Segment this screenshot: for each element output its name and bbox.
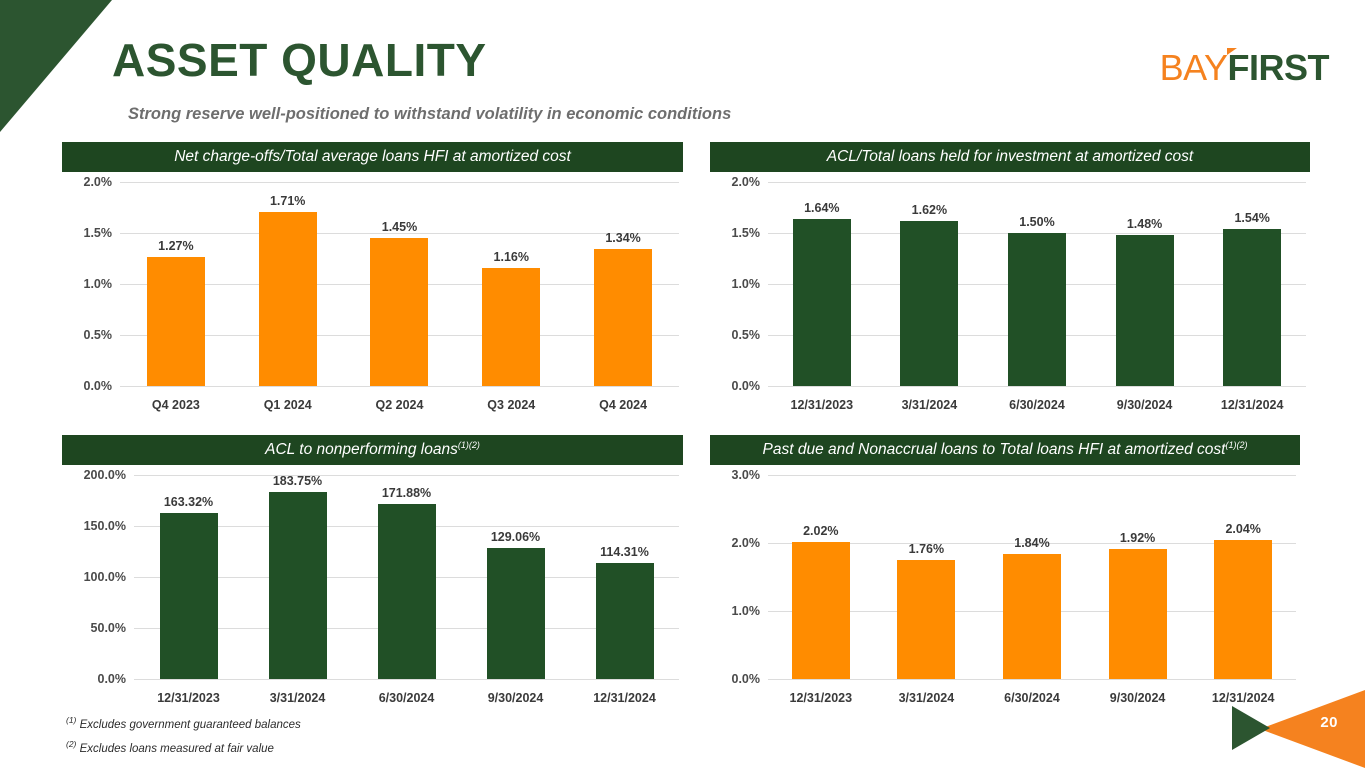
chart-plot-past-due-nonaccrual: 3.0%2.0%1.0%0.0%2.02%1.76%1.84%1.92%2.04… <box>710 475 1300 713</box>
bar-value-label: 1.71% <box>270 194 305 208</box>
chart-title-superscript: (1)(2) <box>1225 440 1247 450</box>
y-axis-tick-label: 2.0% <box>732 536 761 550</box>
bar-value-label: 1.27% <box>158 239 193 253</box>
bar <box>147 257 205 387</box>
gridline: 0.0% <box>134 679 679 680</box>
bar <box>792 542 850 679</box>
corner-decoration-top-left <box>0 0 112 132</box>
bar-group: 2.02%1.76%1.84%1.92%2.04% <box>768 475 1296 679</box>
bar <box>793 219 851 386</box>
footnotes: (1) Excludes government guaranteed balan… <box>66 712 301 761</box>
bar-slot: 2.02% <box>768 475 874 679</box>
y-axis-tick-label: 1.0% <box>732 277 761 291</box>
logo-text-first: FIRST <box>1228 47 1330 88</box>
y-axis-tick-label: 0.0% <box>732 672 761 686</box>
bar-slot: 1.48% <box>1091 182 1199 386</box>
x-axis-tick-label: 6/30/2024 <box>352 691 461 705</box>
chart-plot-area: 2.0%1.5%1.0%0.5%0.0%1.64%1.62%1.50%1.48%… <box>768 182 1306 386</box>
bar-value-label: 1.50% <box>1019 215 1054 229</box>
bar <box>1214 540 1272 679</box>
x-axis-tick-label: 3/31/2024 <box>874 691 980 705</box>
bar <box>487 548 545 680</box>
bar-value-label: 1.34% <box>605 231 640 245</box>
chart-plot-area: 200.0%150.0%100.0%50.0%0.0%163.32%183.75… <box>134 475 679 679</box>
chart-plot-acl-total-loans: 2.0%1.5%1.0%0.5%0.0%1.64%1.62%1.50%1.48%… <box>710 182 1310 420</box>
bar <box>1109 549 1167 680</box>
bar <box>482 268 540 386</box>
x-axis-tick-label: 6/30/2024 <box>983 398 1091 412</box>
bar-slot: 1.62% <box>876 182 984 386</box>
bar-value-label: 129.06% <box>491 530 540 544</box>
bar-slot: 1.16% <box>455 182 567 386</box>
x-axis-tick-label: Q2 2024 <box>344 398 456 412</box>
bar-value-label: 1.45% <box>382 220 417 234</box>
x-axis-tick-label: Q4 2023 <box>120 398 232 412</box>
bar <box>269 492 327 679</box>
x-axis-tick-label: 9/30/2024 <box>1085 691 1191 705</box>
y-axis-tick-label: 1.0% <box>732 604 761 618</box>
y-axis-tick-label: 0.0% <box>732 379 761 393</box>
chart-plot-area: 3.0%2.0%1.0%0.0%2.02%1.76%1.84%1.92%2.04… <box>768 475 1296 679</box>
y-axis-tick-label: 0.5% <box>732 328 761 342</box>
footnote-2: (2) Excludes loans measured at fair valu… <box>66 736 301 760</box>
x-axis-tick-label: 12/31/2023 <box>768 398 876 412</box>
bar <box>160 513 218 680</box>
company-logo: BAYFIRST <box>1160 50 1329 86</box>
bar-slot: 1.45% <box>344 182 456 386</box>
bar-value-label: 2.02% <box>803 524 838 538</box>
footnote-1: (1) Excludes government guaranteed balan… <box>66 712 301 736</box>
bar-value-label: 114.31% <box>600 545 649 559</box>
bar <box>900 221 958 386</box>
y-axis-tick-label: 0.5% <box>84 328 113 342</box>
chart-title-acl-total-loans: ACL/Total loans held for investment at a… <box>710 142 1310 172</box>
bar-slot: 1.27% <box>120 182 232 386</box>
chart-plot-net-charge-offs: 2.0%1.5%1.0%0.5%0.0%1.27%1.71%1.45%1.16%… <box>62 182 683 420</box>
bar-value-label: 2.04% <box>1225 522 1260 536</box>
bar-slot: 2.04% <box>1190 475 1296 679</box>
bar-slot: 114.31% <box>570 475 679 679</box>
y-axis-tick-label: 3.0% <box>732 468 761 482</box>
bar <box>596 563 654 680</box>
bar-slot: 171.88% <box>352 475 461 679</box>
x-axis-tick-label: 12/31/2023 <box>134 691 243 705</box>
chart-x-axis: 12/31/20233/31/20246/30/20249/30/202412/… <box>768 683 1296 713</box>
y-axis-tick-label: 2.0% <box>84 175 113 189</box>
y-axis-tick-label: 1.5% <box>84 226 113 240</box>
bar-slot: 1.84% <box>979 475 1085 679</box>
bar-value-label: 183.75% <box>273 474 322 488</box>
x-axis-tick-label: 12/31/2024 <box>570 691 679 705</box>
page-number: 20 <box>1320 714 1338 731</box>
y-axis-tick-label: 50.0% <box>91 621 126 635</box>
bar-value-label: 163.32% <box>164 495 213 509</box>
bar-value-label: 1.76% <box>909 542 944 556</box>
bar-value-label: 171.88% <box>382 486 431 500</box>
chart-plot-acl-to-nonperforming: 200.0%150.0%100.0%50.0%0.0%163.32%183.75… <box>62 475 683 713</box>
bar-group: 1.27%1.71%1.45%1.16%1.34% <box>120 182 679 386</box>
logo-text-bay: BAY <box>1160 47 1228 88</box>
y-axis-tick-label: 0.0% <box>98 672 127 686</box>
x-axis-tick-label: 9/30/2024 <box>1091 398 1199 412</box>
x-axis-tick-label: 12/31/2024 <box>1198 398 1306 412</box>
bar-slot: 1.34% <box>567 182 679 386</box>
bar-slot: 1.76% <box>874 475 980 679</box>
chart-panel-past-due-nonaccrual: Past due and Nonaccrual loans to Total l… <box>710 435 1300 717</box>
chart-title-past-due-nonaccrual: Past due and Nonaccrual loans to Total l… <box>710 435 1300 465</box>
chart-x-axis: 12/31/20233/31/20246/30/20249/30/202412/… <box>768 390 1306 420</box>
y-axis-tick-label: 1.5% <box>732 226 761 240</box>
chart-panel-net-charge-offs: Net charge-offs/Total average loans HFI … <box>62 142 683 424</box>
bar-value-label: 1.48% <box>1127 217 1162 231</box>
bar <box>1008 233 1066 386</box>
y-axis-tick-label: 2.0% <box>732 175 761 189</box>
y-axis-tick-label: 1.0% <box>84 277 113 291</box>
x-axis-tick-label: 12/31/2024 <box>1190 691 1296 705</box>
bar <box>1003 554 1061 679</box>
x-axis-tick-label: Q3 2024 <box>455 398 567 412</box>
bar-slot: 1.64% <box>768 182 876 386</box>
bar <box>378 504 436 679</box>
chart-x-axis: Q4 2023Q1 2024Q2 2024Q3 2024Q4 2024 <box>120 390 679 420</box>
footnote-1-text: Excludes government guaranteed balances <box>80 719 301 731</box>
x-axis-tick-label: 12/31/2023 <box>768 691 874 705</box>
x-axis-tick-label: 6/30/2024 <box>979 691 1085 705</box>
gridline: 0.0% <box>120 386 679 387</box>
gridline: 0.0% <box>768 386 1306 387</box>
chart-x-axis: 12/31/20233/31/20246/30/20249/30/202412/… <box>134 683 679 713</box>
page-subtitle: Strong reserve well-positioned to withst… <box>128 105 731 124</box>
bar-value-label: 1.92% <box>1120 531 1155 545</box>
footnote-2-marker: (2) <box>66 739 76 749</box>
y-axis-tick-label: 200.0% <box>84 468 126 482</box>
bar-slot: 1.50% <box>983 182 1091 386</box>
bar <box>370 238 428 386</box>
gridline: 0.0% <box>768 679 1296 680</box>
bar-group: 1.64%1.62%1.50%1.48%1.54% <box>768 182 1306 386</box>
chart-plot-area: 2.0%1.5%1.0%0.5%0.0%1.27%1.71%1.45%1.16%… <box>120 182 679 386</box>
chart-panel-acl-to-nonperforming: ACL to nonperforming loans(1)(2) 200.0%1… <box>62 435 683 717</box>
x-axis-tick-label: 3/31/2024 <box>243 691 352 705</box>
bar-value-label: 1.64% <box>804 201 839 215</box>
bar <box>1223 229 1281 386</box>
y-axis-tick-label: 100.0% <box>84 570 126 584</box>
bar <box>259 212 317 386</box>
chart-title-net-charge-offs: Net charge-offs/Total average loans HFI … <box>62 142 683 172</box>
bar-slot: 1.71% <box>232 182 344 386</box>
bar-slot: 163.32% <box>134 475 243 679</box>
x-axis-tick-label: 3/31/2024 <box>876 398 984 412</box>
x-axis-tick-label: Q4 2024 <box>567 398 679 412</box>
chart-panel-acl-total-loans: ACL/Total loans held for investment at a… <box>710 142 1310 424</box>
bar-slot: 183.75% <box>243 475 352 679</box>
bar <box>897 560 955 680</box>
bar-value-label: 1.54% <box>1234 211 1269 225</box>
x-axis-tick-label: Q1 2024 <box>232 398 344 412</box>
bar-slot: 1.92% <box>1085 475 1191 679</box>
bar <box>594 249 652 386</box>
page-title: ASSET QUALITY <box>112 33 487 87</box>
bar-slot: 1.54% <box>1198 182 1306 386</box>
y-axis-tick-label: 150.0% <box>84 519 126 533</box>
bar <box>1116 235 1174 386</box>
bar-value-label: 1.16% <box>494 250 529 264</box>
x-axis-tick-label: 9/30/2024 <box>461 691 570 705</box>
bar-value-label: 1.62% <box>912 203 947 217</box>
chart-title-acl-to-nonperforming: ACL to nonperforming loans(1)(2) <box>62 435 683 465</box>
footnote-2-text: Excludes loans measured at fair value <box>80 743 274 755</box>
chart-title-superscript: (1)(2) <box>458 440 480 450</box>
bar-value-label: 1.84% <box>1014 536 1049 550</box>
footnote-1-marker: (1) <box>66 715 76 725</box>
y-axis-tick-label: 0.0% <box>84 379 113 393</box>
bar-group: 163.32%183.75%171.88%129.06%114.31% <box>134 475 679 679</box>
bar-slot: 129.06% <box>461 475 570 679</box>
